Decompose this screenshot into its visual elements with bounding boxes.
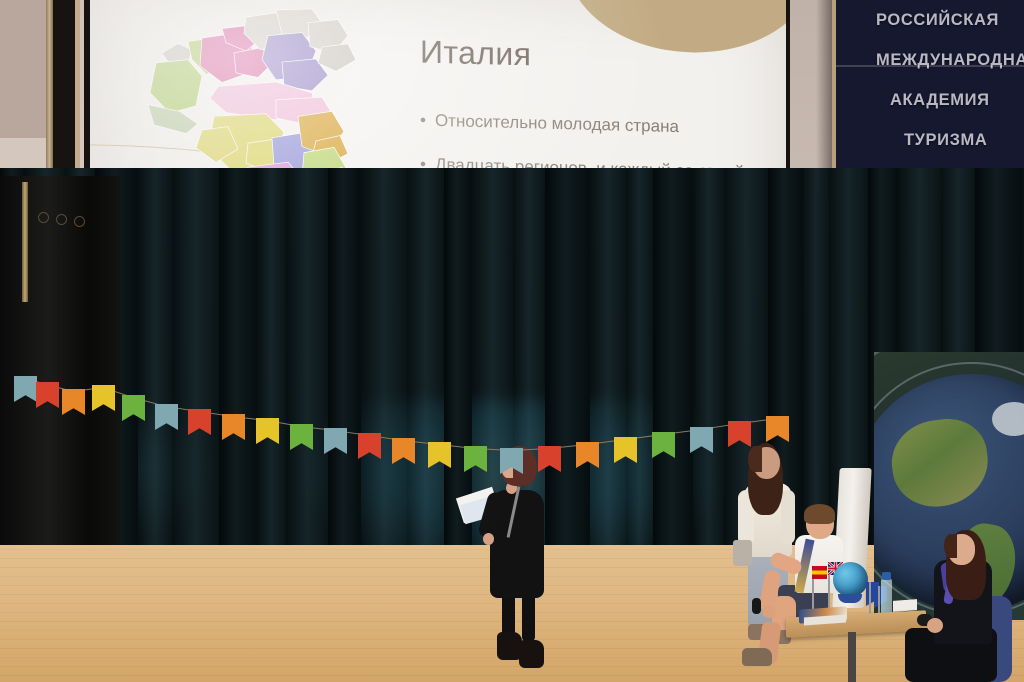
curtain-panel	[626, 168, 653, 580]
academy-banner-text: РОССИЙСКАЯ МЕЖДУНАРОДНАЯ АКАДЕМИЯ ТУРИЗМ…	[876, 0, 1024, 160]
curtain-panel	[219, 168, 257, 580]
seated-man-hair	[804, 504, 835, 524]
curtain-panel	[407, 168, 444, 580]
curtain-panel	[653, 168, 693, 580]
curtain-ring-icon	[74, 216, 85, 227]
floor-plank	[0, 675, 1024, 676]
curtain-panel	[138, 168, 172, 580]
left-banner-logo-circle	[0, 0, 12, 18]
water-bottle-cap	[882, 572, 891, 580]
papers-on-table	[893, 599, 917, 612]
academy-banner-line-3: АКАДЕМИЯ	[876, 80, 1024, 120]
curtain-ring-icon	[56, 214, 67, 225]
standing-woman-hair-front	[748, 446, 762, 472]
standing-woman-sleeve	[781, 490, 795, 544]
seated-man-hand	[762, 605, 776, 618]
left-banner-partial	[0, 0, 50, 138]
academy-banner-seam	[836, 65, 1024, 67]
conference-hall-photo: Città Metropolitana Италия • Относительн…	[0, 0, 1024, 682]
academy-banner: РОССИЙСКАЯ МЕЖДУНАРОДНАЯ АКАДЕМИЯ ТУРИЗМ…	[832, 0, 1024, 192]
standing-woman-bag	[733, 540, 752, 566]
presenter-hand	[483, 533, 494, 545]
curtain-panel	[286, 168, 328, 580]
curtain-ring-icon	[38, 212, 49, 223]
presenter-boot	[519, 640, 544, 668]
seated-woman-hair-front	[944, 534, 957, 558]
curtain-panel	[590, 168, 626, 580]
spain-flag	[812, 566, 827, 579]
academy-banner-line-4: ТУРИЗМА	[876, 120, 1024, 160]
curtain-panel	[257, 168, 286, 580]
seated-woman-hand	[927, 618, 943, 633]
desk-globe-base	[838, 594, 862, 603]
water-bottle	[881, 578, 892, 616]
curtain-panel	[361, 168, 407, 580]
table-leg	[848, 632, 856, 682]
wall-shadow-left	[53, 0, 75, 194]
seated-man-microphone	[752, 598, 761, 614]
academy-banner-line-1: РОССИЙСКАЯ	[876, 0, 1024, 40]
seated-man-shoe	[742, 648, 772, 666]
wall-trim-left	[46, 0, 53, 194]
wall-edge-left	[75, 0, 80, 194]
presenter-leg	[522, 592, 535, 642]
curtain-panel	[693, 168, 724, 580]
curtain-panel	[545, 168, 590, 580]
floor-plank	[0, 666, 1024, 667]
desk-globe	[833, 562, 868, 597]
curtain-rod	[22, 182, 28, 302]
curtain-panel	[172, 168, 219, 580]
curtain-panel	[328, 168, 361, 580]
academy-banner-line-2: МЕЖДУНАРОДНАЯ	[876, 40, 1024, 80]
